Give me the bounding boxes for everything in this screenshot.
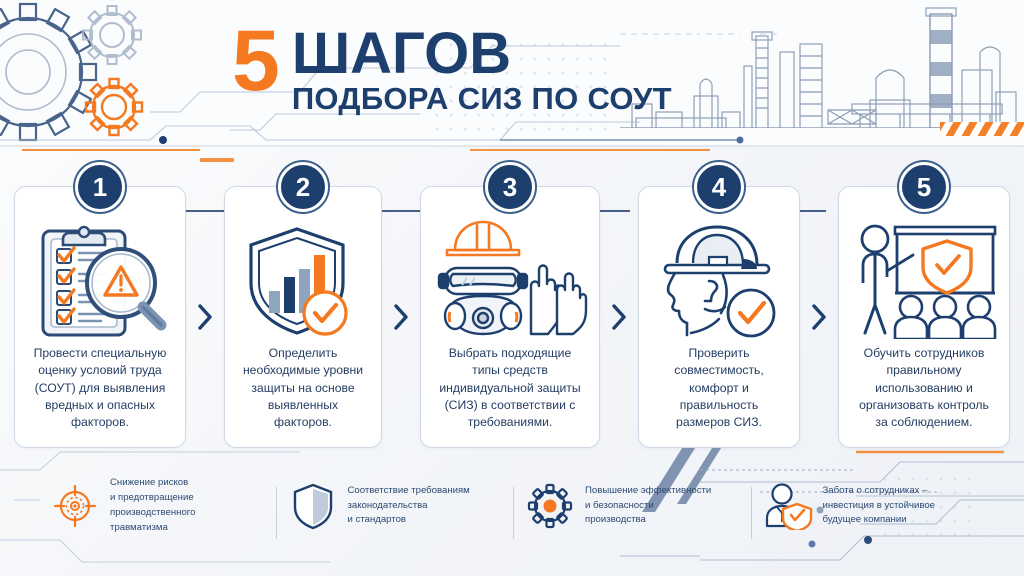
chevron-right-icon [186,186,224,448]
step-badge-3: 3 [485,162,535,212]
gear-dot-icon [523,479,577,533]
step-badge-5: 5 [899,162,949,212]
benefit-item-1[interactable]: Снижение рисков и предотвращение произво… [38,476,276,535]
step-count-number: 5 [232,22,278,101]
step-text-2: Определить необходимые уровни защиты на … [235,345,371,432]
shield-bar-chart-check-icon [235,221,371,339]
step-badge-2: 2 [278,162,328,212]
step-text-5: Обучить сотрудников правильному использо… [849,345,999,432]
benefits-row: Снижение рисков и предотвращение произво… [38,466,988,546]
step-text-4: Проверить совместимость, комфорт и прави… [649,345,789,432]
worker-head-helmet-check-icon [649,221,789,339]
step-card-4[interactable]: 4 [638,186,800,448]
step-text-3: Выбрать подходящие типы средств индивиду… [431,345,589,432]
chevron-right-icon [800,186,838,448]
target-crosshair-icon [48,479,102,533]
chevron-right-icon [382,186,420,448]
step-badge-4: 4 [694,162,744,212]
steps-row: 1 [14,186,1010,448]
clipboard-checklist-magnifier-warning-icon [25,221,175,339]
benefit-item-4[interactable]: Забота о сотрудниках – инвестиция в усто… [751,479,989,533]
ppe-helmet-goggles-respirator-gloves-icon [431,221,589,339]
step-text-1: Провести специальную оценку условий труд… [25,345,175,432]
step-card-1[interactable]: 1 [14,186,186,448]
step-badge-1: 1 [75,162,125,212]
step-card-3[interactable]: 3 [420,186,600,448]
benefit-item-3[interactable]: Повышение эффективности и безопасности п… [513,479,751,533]
chevron-right-icon [600,186,638,448]
benefit-text-4: Забота о сотрудниках – инвестиция в усто… [823,484,936,529]
benefit-text-2: Соответствие требованиям законодательств… [348,484,470,529]
page-subtitle: ПОДБОРА СИЗ ПО СОУТ [292,83,672,116]
benefit-item-2[interactable]: Соответствие требованиям законодательств… [276,479,514,533]
benefit-text-1: Снижение рисков и предотвращение произво… [110,476,195,535]
benefit-text-3: Повышение эффективности и безопасности п… [585,484,711,529]
person-shield-check-icon [761,479,815,533]
infographic-canvas: 5 ШАГОВ ПОДБОРА СИЗ ПО СОУТ 1 [0,0,1024,576]
shield-icon [286,479,340,533]
page-title: ШАГОВ [292,26,672,81]
header: 5 ШАГОВ ПОДБОРА СИЗ ПО СОУТ [0,0,1024,146]
step-card-5[interactable]: 5 [838,186,1010,448]
training-presentation-shield-icon [849,221,999,339]
step-card-2[interactable]: 2 Определить необходимые уровни защиты н… [224,186,382,448]
